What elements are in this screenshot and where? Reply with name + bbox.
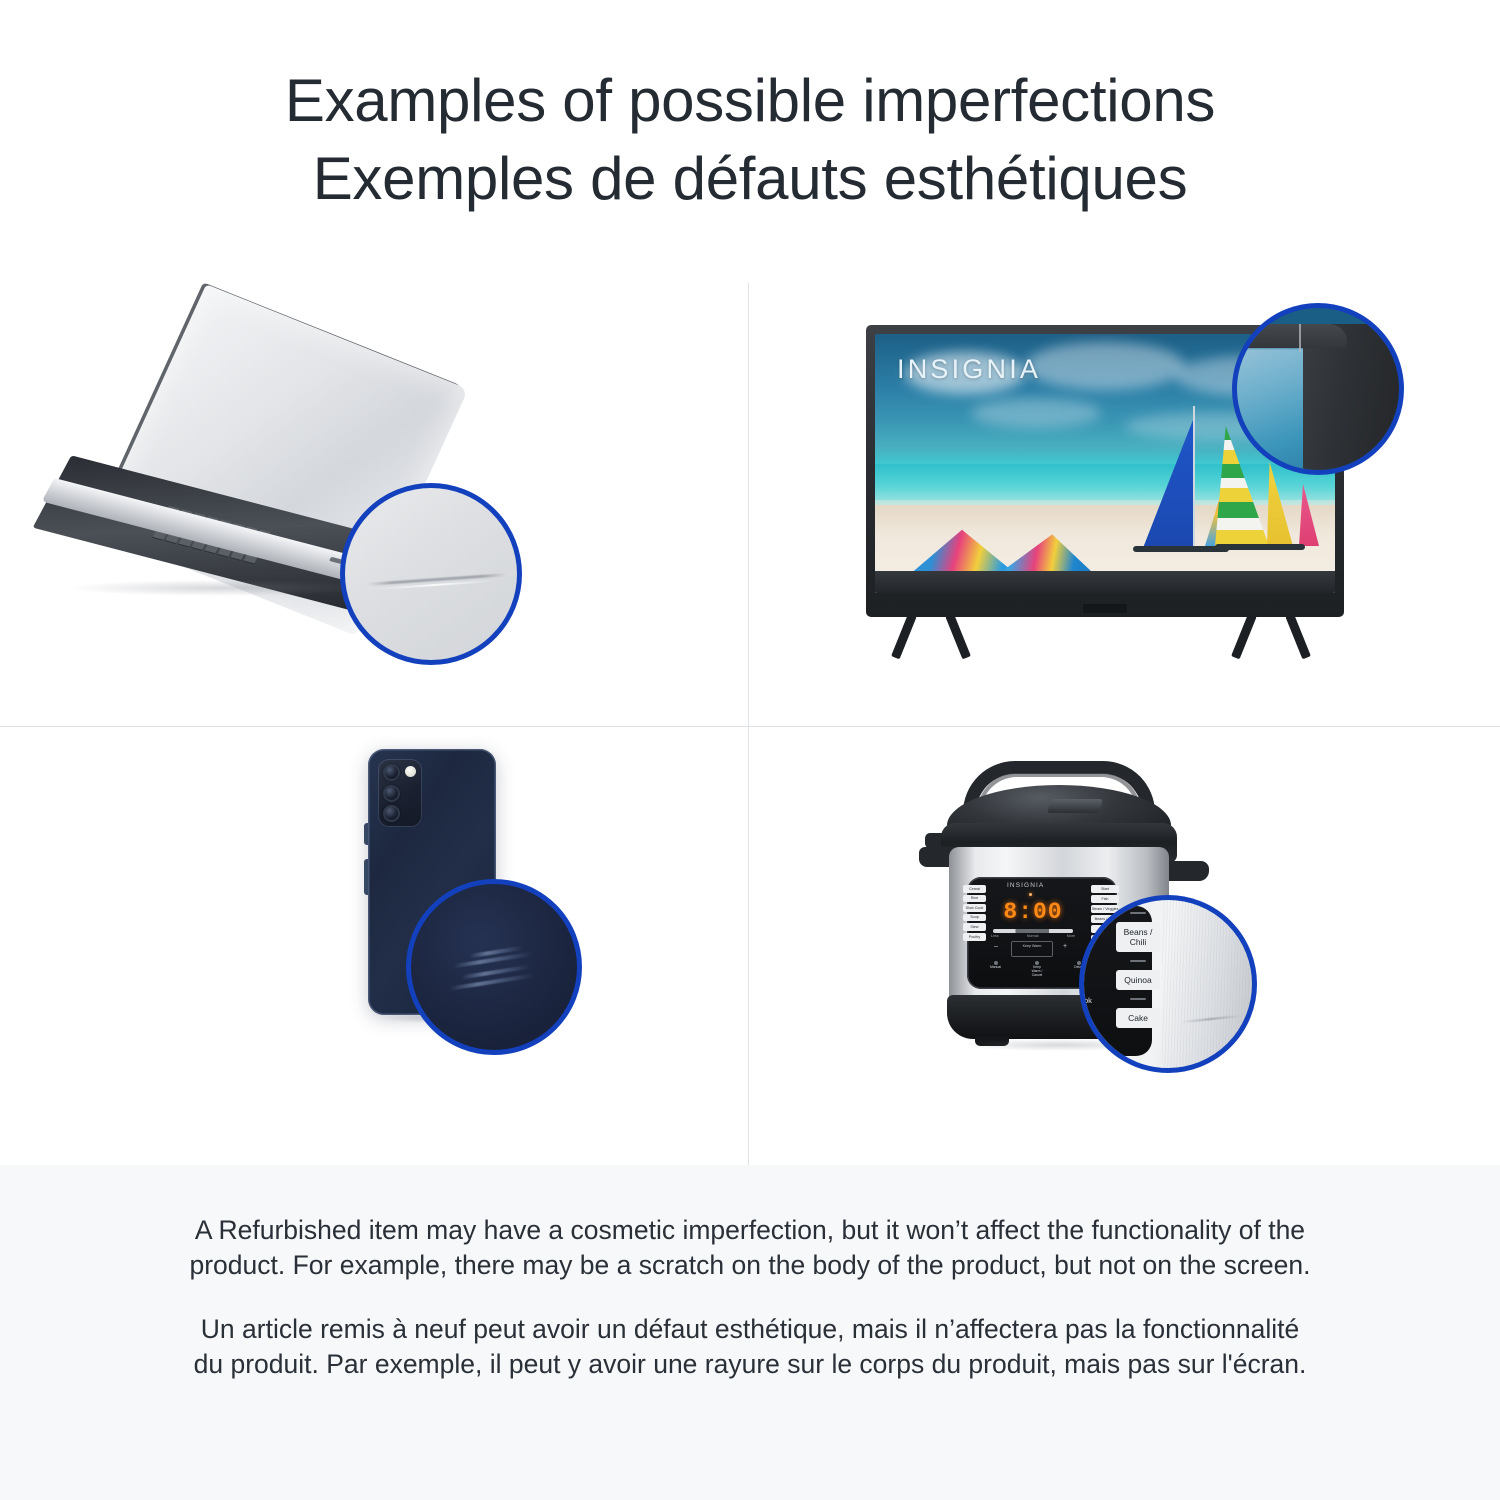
camera-lens-icon bbox=[383, 764, 400, 781]
panel-television: INSIGNIA bbox=[749, 283, 1500, 726]
cooker-button-fish[interactable]: Fish bbox=[1091, 895, 1119, 903]
page-title-english: Examples of possible imperfections bbox=[0, 62, 1500, 140]
refurbished-imperfections-infographic: Examples of possible imperfections Exemp… bbox=[0, 0, 1500, 1500]
tv-magnified-screen-area bbox=[1232, 348, 1311, 475]
tv-screen-brand-label: INSIGNIA bbox=[897, 354, 1041, 385]
laptop-imperfection-magnifier bbox=[340, 483, 522, 665]
cooker-button-led bbox=[1130, 912, 1146, 914]
laptop-product-photo bbox=[30, 308, 550, 698]
page-title: Examples of possible imperfections Exemp… bbox=[0, 62, 1500, 218]
description-french: Un article remis à neuf peut avoir un dé… bbox=[185, 1312, 1315, 1382]
panel-laptop bbox=[0, 283, 748, 726]
cooker-button-start[interactable]: Start bbox=[1091, 885, 1119, 893]
smartphone-product-photo bbox=[0, 727, 748, 1165]
cooker-keepwarm-readout: Keep Warm bbox=[1011, 941, 1053, 957]
cooker-button-soup[interactable]: Soup bbox=[963, 914, 986, 922]
camera-lens-icon bbox=[383, 785, 400, 802]
cooker-minus-button[interactable]: – bbox=[994, 943, 998, 950]
cooker-magnified-label-slow-cook: Slow Cook bbox=[1079, 996, 1092, 1005]
pressure-cooker-product-photo: INSIGNIA 8:00 Less Normal More Keep Warm… bbox=[749, 727, 1500, 1165]
cooker-steel-grain bbox=[1162, 900, 1257, 1073]
tv-imperfection-magnifier bbox=[1232, 303, 1404, 475]
cooker-button-keep-warm-cancel[interactable]: Keep Warm / Cancel bbox=[1029, 961, 1046, 977]
cooker-mode-label-more: More bbox=[1067, 934, 1075, 938]
product-example-grid: INSIGNIA bbox=[0, 283, 1500, 1165]
cooker-button-rice[interactable]: Rice bbox=[963, 895, 986, 903]
cooker-mode-bar-labels: Less Normal More bbox=[991, 934, 1075, 938]
television-product-photo: INSIGNIA bbox=[854, 311, 1374, 701]
phone-imperfection-magnifier bbox=[406, 879, 582, 1055]
tv-lower-bezel bbox=[875, 571, 1335, 593]
cooker-status-indicator bbox=[1029, 893, 1032, 896]
description-panel: A Refurbished item may have a cosmetic i… bbox=[0, 1165, 1500, 1500]
tv-logo-nub bbox=[1083, 604, 1127, 613]
cooker-left-button-column: Cereal Rice Slow Cook Soup Stew Poultry bbox=[963, 885, 986, 941]
cooker-steam-valve bbox=[1047, 799, 1103, 813]
tv-magnified-bezel-top bbox=[1232, 324, 1347, 348]
cooker-button-slow-cook[interactable]: Slow Cook bbox=[963, 904, 986, 912]
cooker-led-display: 8:00 bbox=[1001, 899, 1065, 925]
camera-lens-icon bbox=[383, 805, 400, 822]
camera-flash-icon bbox=[405, 766, 416, 777]
cooker-magnified-button-quinoa[interactable]: Quinoa bbox=[1116, 970, 1160, 990]
tv-stand-leg-left bbox=[902, 615, 960, 661]
cooker-button-manual[interactable]: Manual bbox=[987, 961, 1004, 977]
cooker-mode-label-less: Less bbox=[991, 934, 999, 938]
cooker-imperfection-magnifier: Delay Slow Cook Beans / Chili Quinoa Cak… bbox=[1079, 895, 1257, 1073]
cooker-button-poultry[interactable]: Poultry bbox=[963, 933, 986, 941]
tv-bezel-scratch-mark bbox=[1299, 324, 1301, 352]
cooker-brand-label: INSIGNIA bbox=[1007, 882, 1044, 889]
boat-hull bbox=[1215, 544, 1305, 550]
cloud bbox=[971, 398, 1101, 428]
cooker-magnified-button-beans-chili[interactable]: Beans / Chili bbox=[1116, 922, 1160, 952]
description-english: A Refurbished item may have a cosmetic i… bbox=[185, 1213, 1315, 1283]
cooker-button-led bbox=[1130, 960, 1146, 962]
tv-stand-leg-right bbox=[1242, 615, 1300, 661]
cooker-magnified-button-column: Beans / Chili Quinoa Cake bbox=[1116, 912, 1160, 1028]
panel-pressure-cooker: INSIGNIA 8:00 Less Normal More Keep Warm… bbox=[749, 727, 1500, 1165]
cooker-handle-right bbox=[1163, 861, 1209, 881]
cooker-button-cereal[interactable]: Cereal bbox=[963, 885, 986, 893]
sailboat-mast bbox=[1193, 406, 1195, 552]
cooker-plus-button[interactable]: + bbox=[1063, 943, 1067, 950]
laptop-shadow bbox=[70, 580, 370, 596]
cooker-bottom-button-row: Manual Keep Warm / Cancel Delay bbox=[987, 961, 1087, 977]
phone-camera-module bbox=[378, 759, 422, 827]
cooker-mode-label-normal: Normal bbox=[1027, 934, 1039, 938]
cooker-button-stew[interactable]: Stew bbox=[963, 923, 986, 931]
cooker-mode-bar bbox=[993, 929, 1073, 933]
panel-smartphone bbox=[0, 727, 748, 1165]
cooker-magnified-button-cake[interactable]: Cake bbox=[1116, 1008, 1160, 1028]
cooker-button-led bbox=[1130, 998, 1146, 1000]
cloud bbox=[1025, 342, 1185, 390]
page-title-french: Exemples de défauts esthétiques bbox=[0, 140, 1500, 218]
